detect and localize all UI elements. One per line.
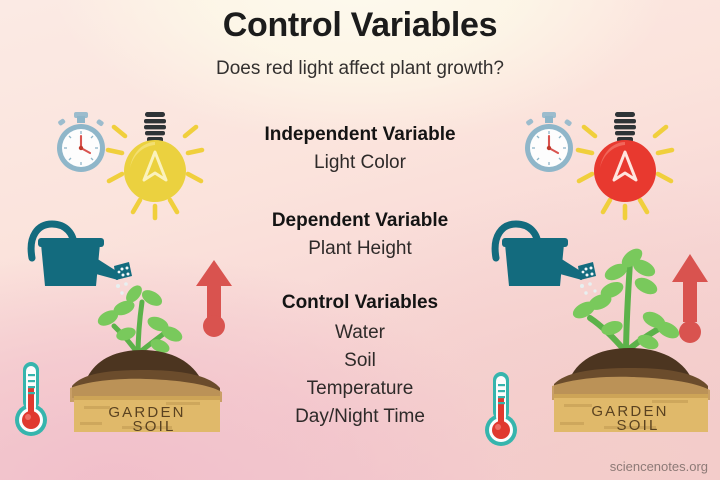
bulb-glass [124, 140, 186, 202]
red-light-bulb-icon [570, 108, 680, 223]
bulb-base [614, 112, 636, 142]
independent-variable-heading: Independent Variable [180, 124, 540, 146]
site-credit: sciencenotes.org [610, 459, 708, 474]
height-arrow-left [192, 258, 236, 342]
soil-bag-label-line2: SOIL [133, 418, 176, 435]
independent-variable-value: Light Color [180, 152, 540, 174]
soil-bag-label-line2: SOIL [617, 417, 660, 434]
yellow-light-bulb-icon [100, 108, 210, 223]
bulb-glass [594, 140, 656, 202]
infographic-canvas: Control Variables Does red light affect … [0, 0, 720, 480]
page-subtitle: Does red light affect plant growth? [0, 58, 720, 80]
bulb-base [144, 112, 166, 142]
page-title: Control Variables [0, 6, 720, 45]
thermometer-icon [478, 368, 524, 452]
thermometer-icon [8, 358, 54, 442]
height-arrow-right [668, 252, 712, 348]
